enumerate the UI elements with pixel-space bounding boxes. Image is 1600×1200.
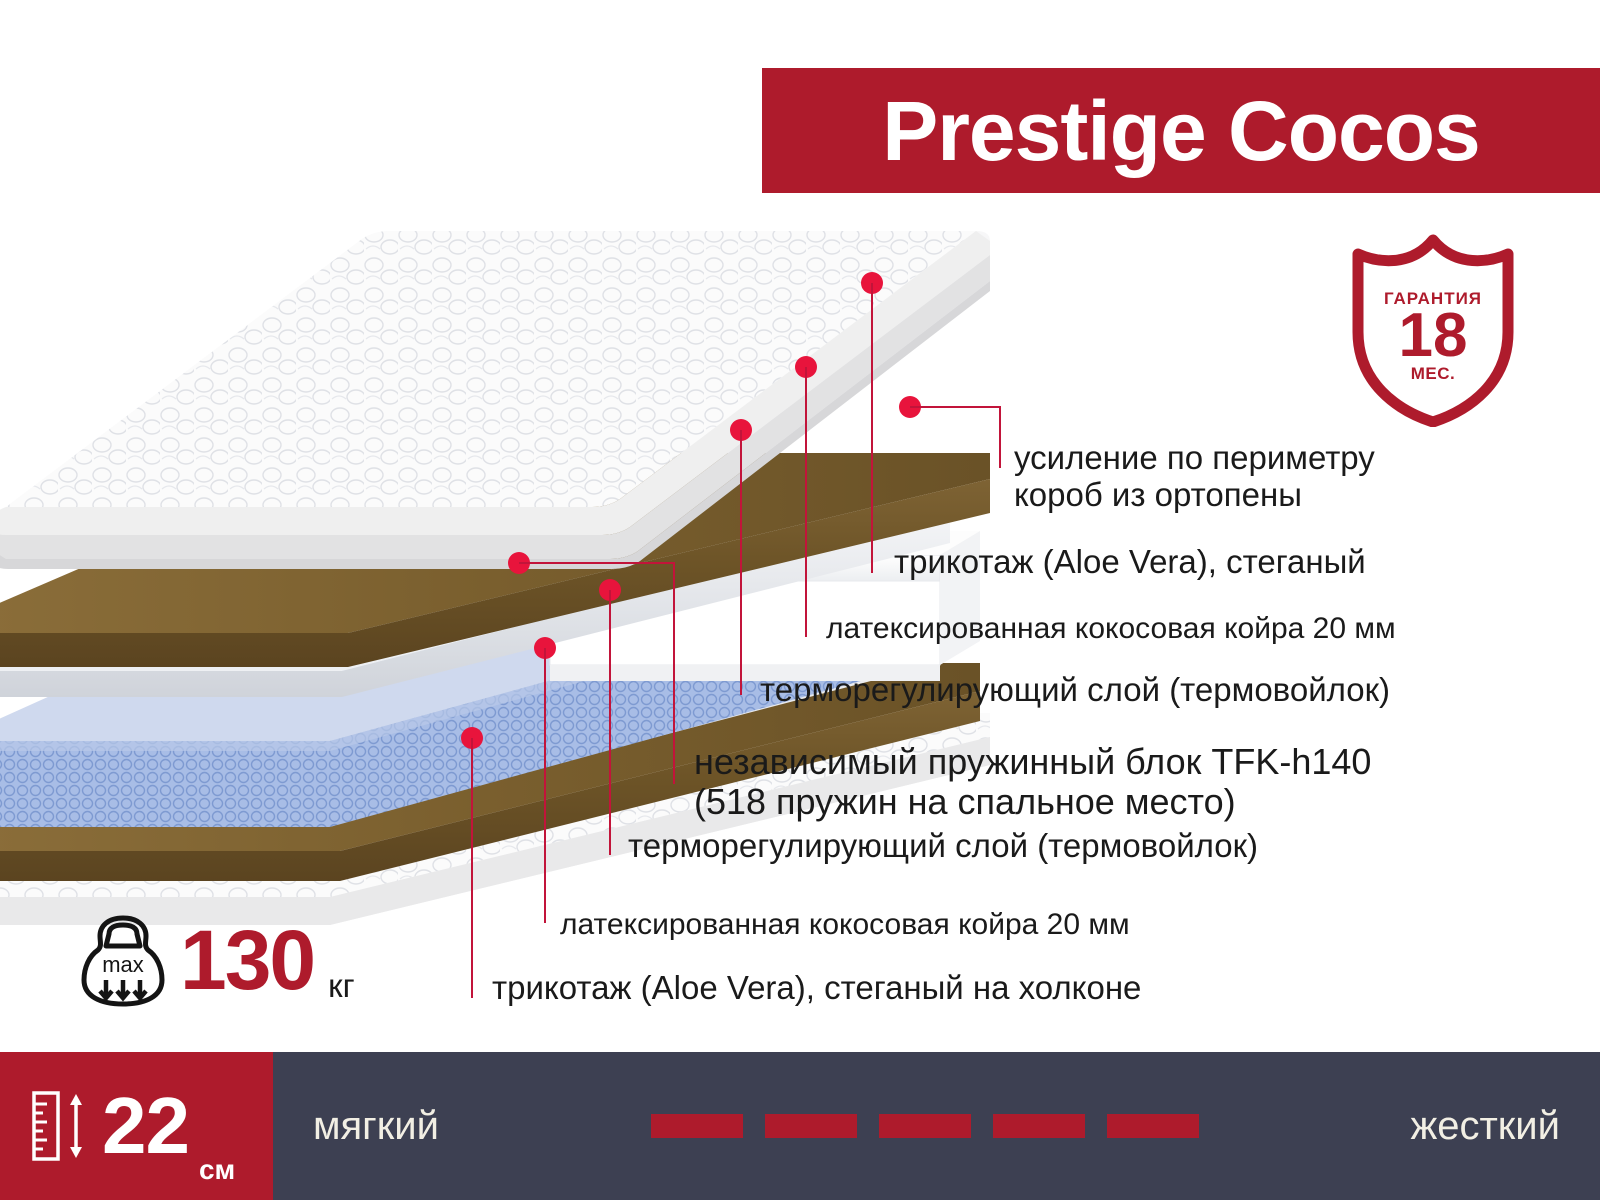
firmness-segment-2 [765,1114,857,1138]
layer-label-perimeter-reinforcement: усиление по периметру короб из ортопены [1014,440,1375,514]
callout-line-knit-top [871,283,873,573]
warranty-badge: ГАРАНТИЯ 18 МЕС. [1338,232,1528,427]
layer-label-coir-bottom: латексированная кокосовая койра 20 мм [560,908,1130,941]
max-weight-unit: кг [328,967,354,1005]
callout-line-felt-bottom [609,590,611,855]
max-weight-indicator: max 130 кг [80,905,355,1015]
shield-icon [1338,232,1528,427]
firmness-segments [651,1114,1199,1138]
callout-line-coir-bottom [544,648,546,923]
layer-label-coir-top: латексированная кокосовая койра 20 мм [826,612,1396,645]
infographic-canvas: Prestige Cocos ГАРАНТИЯ 18 МЕС. [0,0,1600,1200]
firmness-soft-label: мягкий [313,1104,439,1149]
ruler-icon [30,1089,92,1163]
firmness-segment-3 [879,1114,971,1138]
firmness-scale: мягкий жесткий [273,1052,1600,1200]
height-indicator: 22 см [0,1052,273,1200]
layer-label-thermo-felt-bottom: терморегулирующий слой (термовойлок) [628,828,1258,864]
max-weight-value: 130 [180,918,314,1002]
callout-line-knit-bottom [471,738,473,998]
firmness-segment-4 [993,1114,1085,1138]
firmness-hard-label: жесткий [1410,1104,1560,1149]
callout-line-perimeter-v [999,406,1001,468]
product-title-banner: Prestige Cocos [762,68,1600,193]
height-value: 22 [102,1086,189,1166]
callout-line-spring-v [673,562,675,784]
page-title: Prestige Cocos [882,89,1480,173]
layer-label-line2: короб из ортопены [1014,477,1375,514]
bottom-bar: 22 см мягкий жесткий [0,1052,1600,1200]
kettlebell-max-text: max [102,952,144,977]
layer-label-knit-bottom: трикотаж (Aloe Vera), стеганый на холкон… [492,970,1141,1006]
callout-line-felt-top [740,430,742,695]
firmness-segment-1 [651,1114,743,1138]
layer-label-line1: независимый пружинный блок TFK-h140 [694,742,1371,782]
kettlebell-icon: max [80,912,166,1008]
height-unit: см [199,1154,235,1186]
callout-line-perimeter-h [910,406,1000,408]
callout-line-spring-h [519,562,674,564]
layer-label-spring-block: независимый пружинный блок TFK-h140 (518… [694,742,1371,823]
layer-label-thermo-felt-top: терморегулирующий слой (термовойлок) [760,672,1390,708]
firmness-segment-5 [1107,1114,1199,1138]
layer-label-line2: (518 пружин на спальное место) [694,782,1371,822]
callout-line-coir-top [805,367,807,637]
layer-label-knit-top: трикотаж (Aloe Vera), стеганый [894,544,1366,580]
layer-label-line1: усиление по периметру [1014,440,1375,477]
